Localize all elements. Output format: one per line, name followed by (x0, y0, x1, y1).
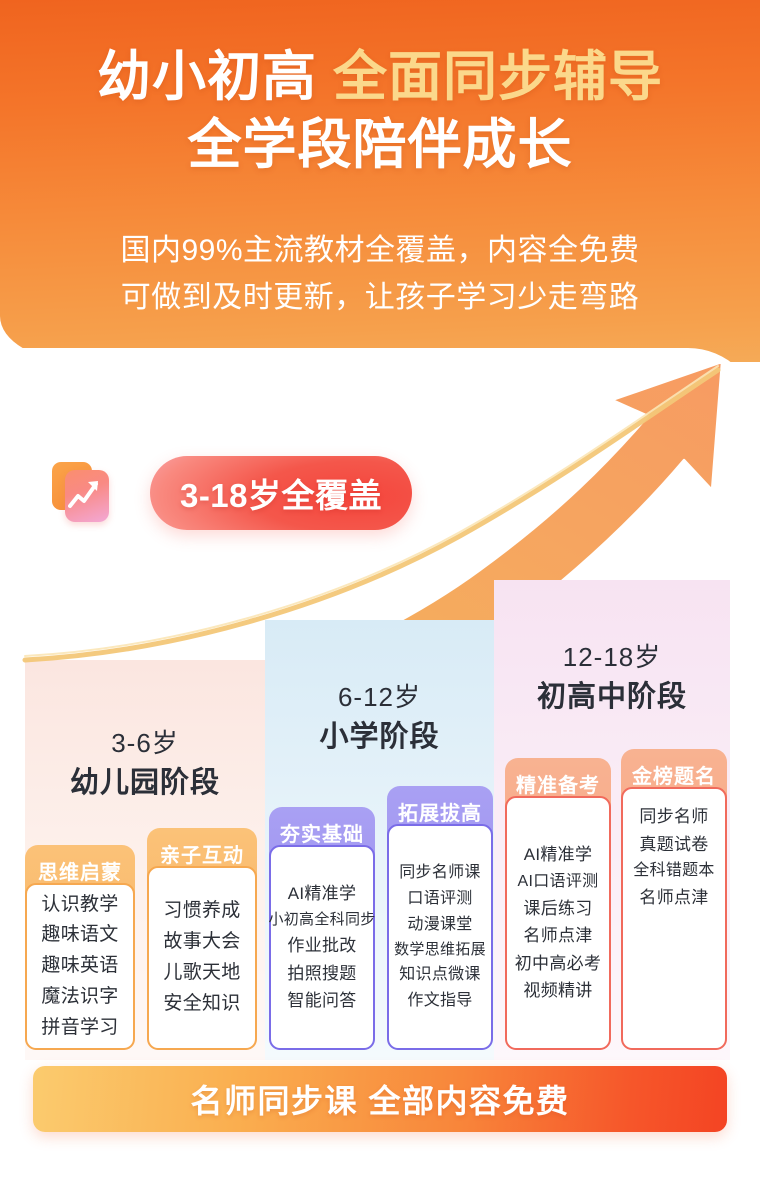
hero-subtitle-line1: 国内99%主流教材全覆盖，内容全免费 (0, 228, 760, 275)
card-item: 儿歌天地 (163, 958, 240, 989)
card-item: 认识教学 (41, 890, 118, 921)
card-item: 名师点津 (639, 884, 708, 912)
card-item: 口语评测 (407, 886, 472, 912)
card-item: 故事大会 (163, 927, 240, 958)
card-item: 智能问答 (287, 987, 356, 1015)
card-item: 同步名师 (639, 803, 708, 831)
card-item: 初中高必考 (515, 950, 602, 978)
footer-cta-banner[interactable]: 名师同步课 全部内容免费 (33, 1066, 727, 1132)
card-body: AI精准学 小初高全科同步 作业批改 拍照搜题 智能问答 (269, 845, 375, 1050)
card-body: 习惯养成 故事大会 儿歌天地 安全知识 (147, 866, 257, 1050)
card-siwei-qimeng[interactable]: 思维启蒙 认识教学 趣味语文 趣味英语 魔法识字 拼音学习 (25, 845, 135, 1050)
card-item: 拼音学习 (41, 1013, 118, 1044)
hero-subtitle-line2: 可做到及时更新，让孩子学习少走弯路 (0, 275, 760, 322)
hero-title-part1: 幼小初高 (97, 47, 317, 107)
hero-title: 幼小初高 全面同步辅导 全学段陪伴成长 (0, 44, 760, 179)
card-item: 魔法识字 (41, 982, 118, 1013)
card-item: 全科错题本 (633, 858, 715, 884)
card-qinzi-hudong[interactable]: 亲子互动 习惯养成 故事大会 儿歌天地 安全知识 (147, 828, 257, 1050)
hero-title-part2: 全面同步辅导 (333, 47, 663, 107)
card-item: 作文指导 (407, 988, 472, 1014)
card-body: AI精准学 AI口语评测 课后练习 名师点津 初中高必考 视频精讲 (505, 796, 611, 1050)
card-body: 认识教学 趣味语文 趣味英语 魔法识字 拼音学习 (25, 883, 135, 1050)
footer-cta-label: 名师同步课 全部内容免费 (191, 1076, 570, 1122)
card-tuozhan-bagao[interactable]: 拓展拔高 同步名师课 口语评测 动漫课堂 数学思维拓展 知识点微课 作文指导 (387, 786, 493, 1050)
hero-subtitle: 国内99%主流教材全覆盖，内容全免费 可做到及时更新，让孩子学习少走弯路 (0, 228, 760, 321)
card-item: 拍照搜题 (287, 960, 356, 988)
card-jingzhun-beikao[interactable]: 精准备考 AI精准学 AI口语评测 课后练习 名师点津 初中高必考 视频精讲 (505, 758, 611, 1050)
card-item: 安全知识 (163, 989, 240, 1020)
card-item: 作业批改 (287, 932, 356, 960)
card-item: AI精准学 (524, 841, 593, 869)
card-item: 同步名师课 (399, 860, 481, 886)
card-item: 趣味英语 (41, 951, 118, 982)
card-item: 习惯养成 (163, 896, 240, 927)
card-item: 趣味语文 (41, 920, 118, 951)
hero-title-line2: 全学段陪伴成长 (0, 112, 760, 180)
card-item: 视频精讲 (523, 977, 592, 1005)
card-body: 同步名师课 口语评测 动漫课堂 数学思维拓展 知识点微课 作文指导 (387, 824, 493, 1050)
card-jinbang-timing[interactable]: 金榜题名 同步名师 真题试卷 全科错题本 名师点津 (621, 749, 727, 1050)
card-item: 小初高全科同步 (268, 908, 375, 932)
card-item: AI口语评测 (518, 869, 599, 895)
promo-page: 幼小初高 全面同步辅导 全学段陪伴成长 国内99%主流教材全覆盖，内容全免费 可… (0, 0, 760, 1200)
card-item: 真题试卷 (639, 831, 708, 859)
card-hangshi-jichu[interactable]: 夯实基础 AI精准学 小初高全科同步 作业批改 拍照搜题 智能问答 (269, 807, 375, 1050)
card-item: 动漫课堂 (407, 912, 472, 938)
card-item: 数学思维拓展 (394, 938, 486, 962)
card-item: 知识点微课 (399, 962, 481, 988)
card-item: 名师点津 (523, 922, 592, 950)
card-item: AI精准学 (288, 880, 357, 908)
card-body: 同步名师 真题试卷 全科错题本 名师点津 (621, 787, 727, 1050)
card-item: 课后练习 (523, 895, 592, 923)
